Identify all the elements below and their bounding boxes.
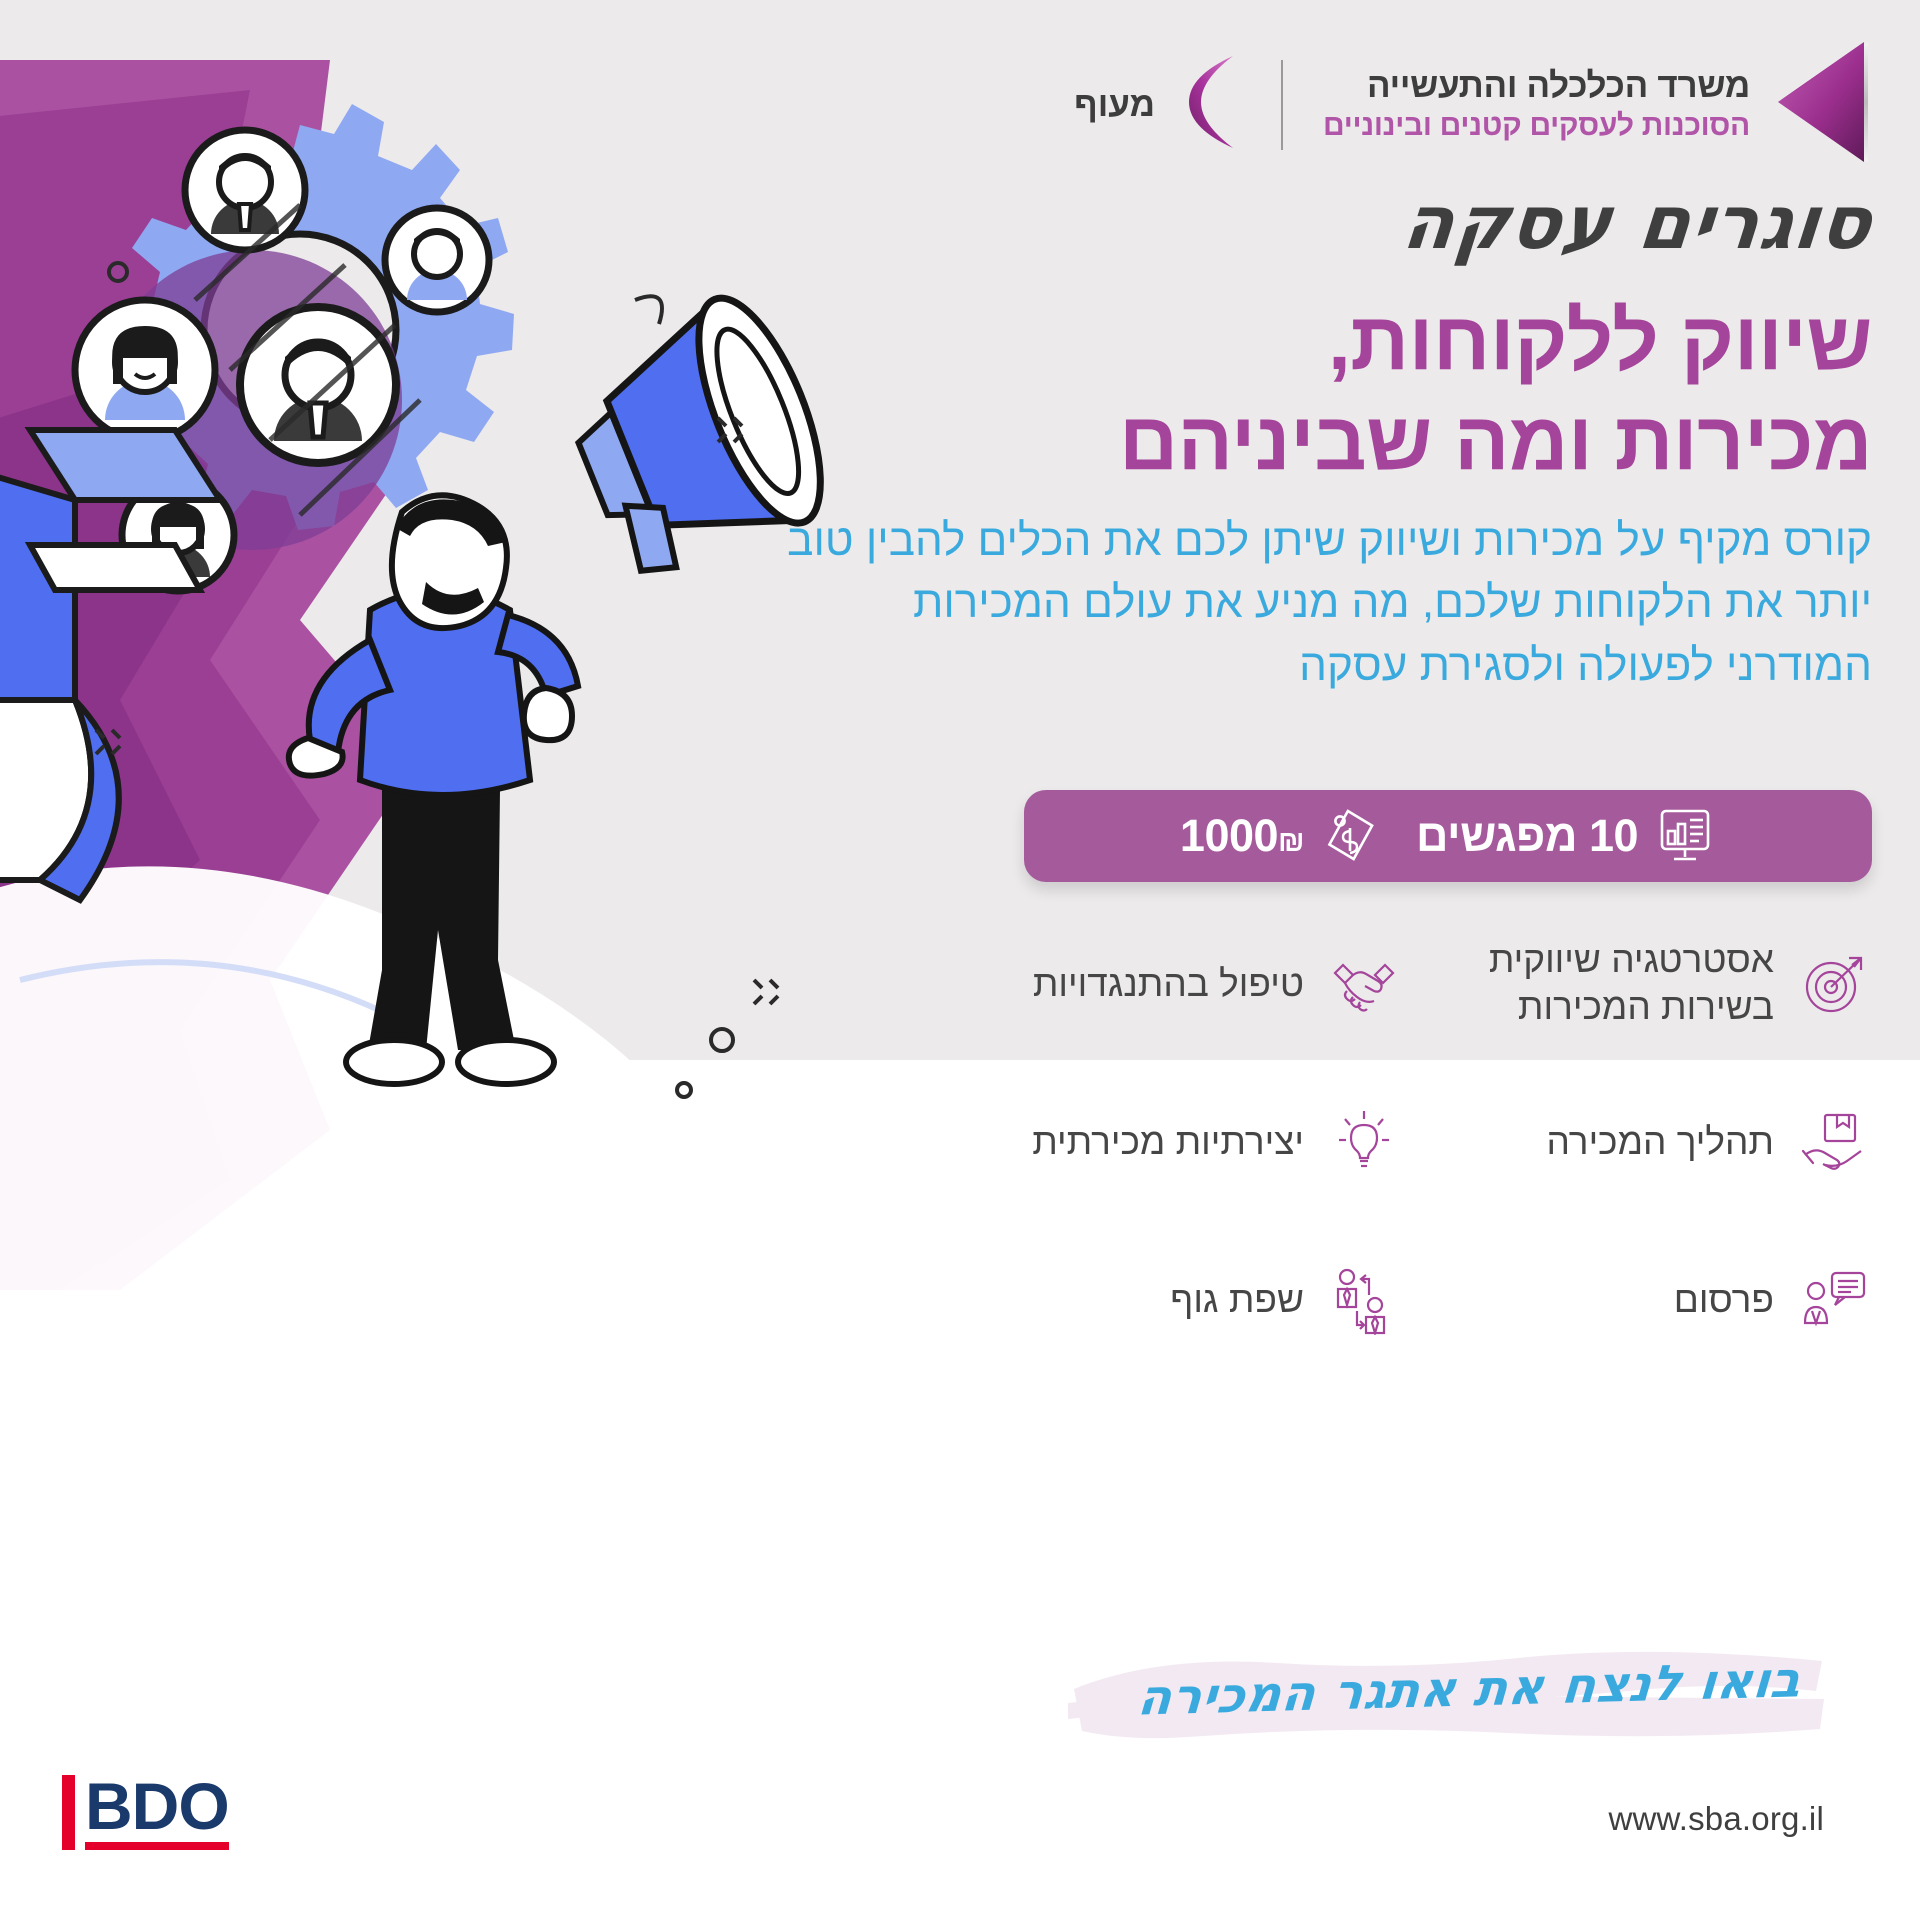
presentation-screen-icon — [1654, 805, 1716, 867]
ministry-subtitle: הסוכנות לעסקים קטנים ובינוניים — [1323, 109, 1750, 143]
price-group: 1000₪ — [1180, 805, 1382, 867]
topics-grid: אסטרטגיה שיווקית בשירות המכירות טיפול בה… — [940, 905, 1880, 1379]
hero-subtitle: קורס מקיף על מכירות ושיווק שיתן לכם את ה… — [782, 510, 1872, 697]
lightbulb-icon — [1326, 1104, 1402, 1180]
poster-root: משרד הכלכלה והתעשייה הסוכנות לעסקים קטני… — [0, 0, 1920, 1920]
header-logos: משרד הכלכלה והתעשייה הסוכנות לעסקים קטני… — [1074, 38, 1880, 171]
topic-label: יצירתיות מכירתית — [1032, 1119, 1304, 1166]
logo-divider — [1281, 60, 1283, 150]
ministry-title: משרד הכלכלה והתעשייה — [1323, 66, 1750, 105]
website-url[interactable]: www.sba.org.il — [1608, 1800, 1824, 1838]
hero-kicker: סוגרים עסקה — [787, 186, 1876, 260]
target-arrow-icon — [1796, 946, 1872, 1022]
topic-item: שפת גוף — [940, 1221, 1410, 1379]
ministry-chevron-logo-icon — [1768, 38, 1880, 171]
hand-holding-box-icon — [1796, 1104, 1872, 1180]
topic-item: תהליך המכירה — [1410, 1063, 1880, 1221]
bdo-red-underline — [85, 1842, 229, 1850]
two-people-arrows-icon — [1326, 1262, 1402, 1338]
course-details-banner: 10 מפגשים 1000₪ — [1024, 790, 1872, 882]
maof-label: מעוף — [1074, 85, 1155, 125]
hero-title: שיווק ללקוחות, מכירות ומה שביניהם — [752, 292, 1872, 492]
topic-label: טיפול בהתנגדויות — [1033, 961, 1304, 1008]
bdo-logo: BDO — [62, 1775, 229, 1850]
price-currency: ₪ — [1278, 825, 1304, 858]
topic-item: אסטרטגיה שיווקית בשירות המכירות — [1410, 905, 1880, 1063]
hero-title-line-1: שיווק ללקוחות, — [752, 292, 1872, 392]
handshake-icon — [1326, 946, 1402, 1022]
person-speech-bubble-icon — [1796, 1262, 1872, 1338]
price-tag-icon — [1320, 805, 1382, 867]
maof-logo-block: מעוף — [1074, 52, 1241, 157]
price-label: 1000₪ — [1180, 810, 1304, 862]
topic-item: יצירתיות מכירתית — [940, 1063, 1410, 1221]
maof-crescent-logo-icon — [1171, 52, 1241, 157]
topic-label: אסטרטגיה שיווקית בשירות המכירות — [1489, 937, 1774, 1030]
topic-label: תהליך המכירה — [1546, 1119, 1774, 1166]
hero-title-line-2: מכירות ומה שביניהם — [752, 392, 1872, 492]
bdo-red-bar — [62, 1775, 75, 1850]
topic-item: פרסום — [1410, 1221, 1880, 1379]
topic-label: שפת גוף — [1170, 1277, 1304, 1324]
price-value: 1000 — [1180, 810, 1278, 861]
tagline-block: בואו לנצח את אתגר המכירה — [1068, 1645, 1828, 1767]
topic-label: פרסום — [1674, 1277, 1774, 1324]
bdo-wordmark: BDO — [85, 1775, 229, 1838]
meetings-group: 10 מפגשים — [1416, 805, 1716, 867]
topic-item: טיפול בהתנגדויות — [940, 905, 1410, 1063]
meetings-label: 10 מפגשים — [1416, 810, 1638, 862]
ministry-logo-block: משרד הכלכלה והתעשייה הסוכנות לעסקים קטני… — [1323, 38, 1880, 171]
